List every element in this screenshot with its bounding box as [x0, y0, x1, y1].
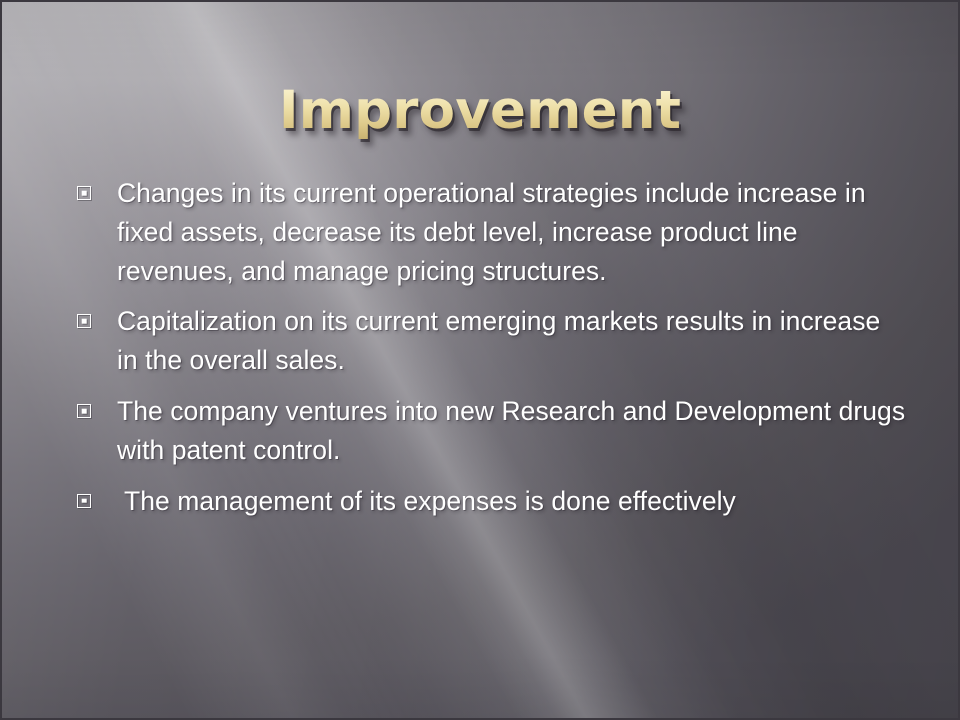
bullet-text: Changes in its current operational strat… — [117, 174, 908, 290]
bullet-item: Capitalization on its current emerging m… — [62, 302, 908, 380]
square-dot-bullet-icon — [77, 494, 91, 508]
bullet-item: The company ventures into new Research a… — [62, 392, 908, 470]
square-dot-bullet-icon — [77, 314, 91, 328]
bullet-item: Changes in its current operational strat… — [62, 174, 908, 290]
bullet-list: Changes in its current operational strat… — [62, 174, 908, 520]
bullet-text: The company ventures into new Research a… — [117, 392, 908, 470]
slide-content: Improvement Changes in its current opera… — [2, 2, 958, 718]
bullet-text: The management of its expenses is done e… — [117, 482, 908, 521]
square-dot-bullet-icon — [77, 186, 91, 200]
square-dot-bullet-icon — [77, 404, 91, 418]
bullet-item: The management of its expenses is done e… — [62, 482, 908, 521]
slide-title: Improvement — [2, 80, 958, 143]
bullet-text: Capitalization on its current emerging m… — [117, 302, 908, 380]
presentation-slide: Improvement Changes in its current opera… — [0, 0, 960, 720]
